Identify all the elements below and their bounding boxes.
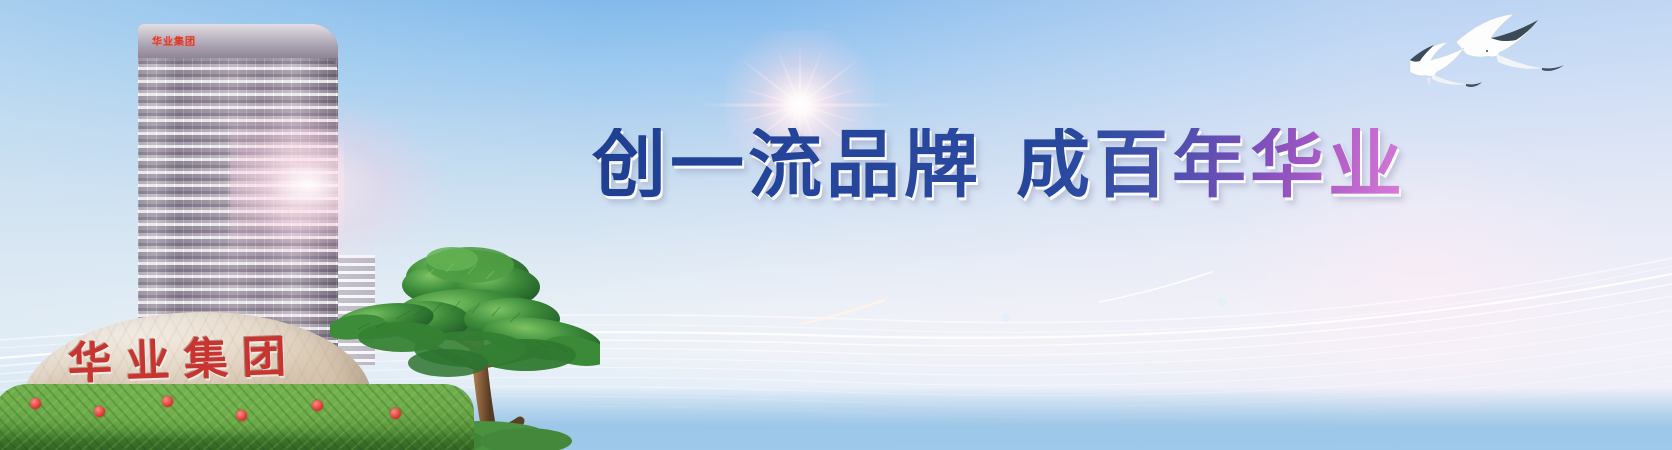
seagull-icon-1	[1456, 14, 1564, 71]
flower-icon	[30, 398, 41, 409]
hedge-row	[0, 384, 474, 450]
monument-char-2: 业	[125, 340, 171, 386]
flower-icon	[312, 400, 323, 411]
hero-banner: 华业集团 华 业 集 团	[0, 0, 1672, 450]
building-sign-text: 华业集团	[152, 33, 196, 48]
flower-icon	[162, 396, 173, 407]
monument-char-4: 团	[241, 335, 287, 381]
monument-char-3: 集	[183, 337, 229, 383]
flower-icon	[94, 406, 105, 417]
slogan-text: 创一流品牌 成百年华业	[592, 128, 1406, 202]
slogan-phrase-1: 创一流品牌	[592, 128, 982, 202]
flower-icon	[390, 408, 401, 419]
slogan-phrase-2: 成百年华业	[1016, 128, 1406, 202]
highrise-building-icon: 华业集团	[138, 24, 338, 354]
monument-char-1: 华	[67, 342, 113, 388]
flower-icon	[236, 410, 247, 421]
seagull-icon-group	[1392, 8, 1572, 118]
